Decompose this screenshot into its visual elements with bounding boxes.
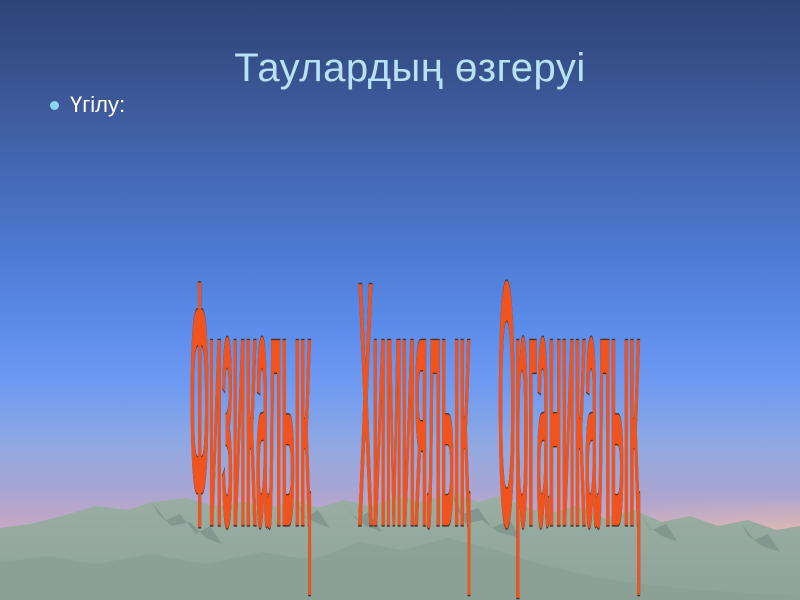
bullet-list-item: Үгілу:: [50, 92, 125, 118]
mountain-ridge-silhouette: [0, 480, 800, 600]
page-title: Таулардың өзгеруі: [150, 44, 670, 92]
bullet-item-label: Үгілу:: [70, 92, 125, 118]
slide-canvas: Физикалық Химиялық Органикалық Таулардың…: [0, 0, 800, 600]
bullet-dot-icon: [50, 101, 59, 110]
